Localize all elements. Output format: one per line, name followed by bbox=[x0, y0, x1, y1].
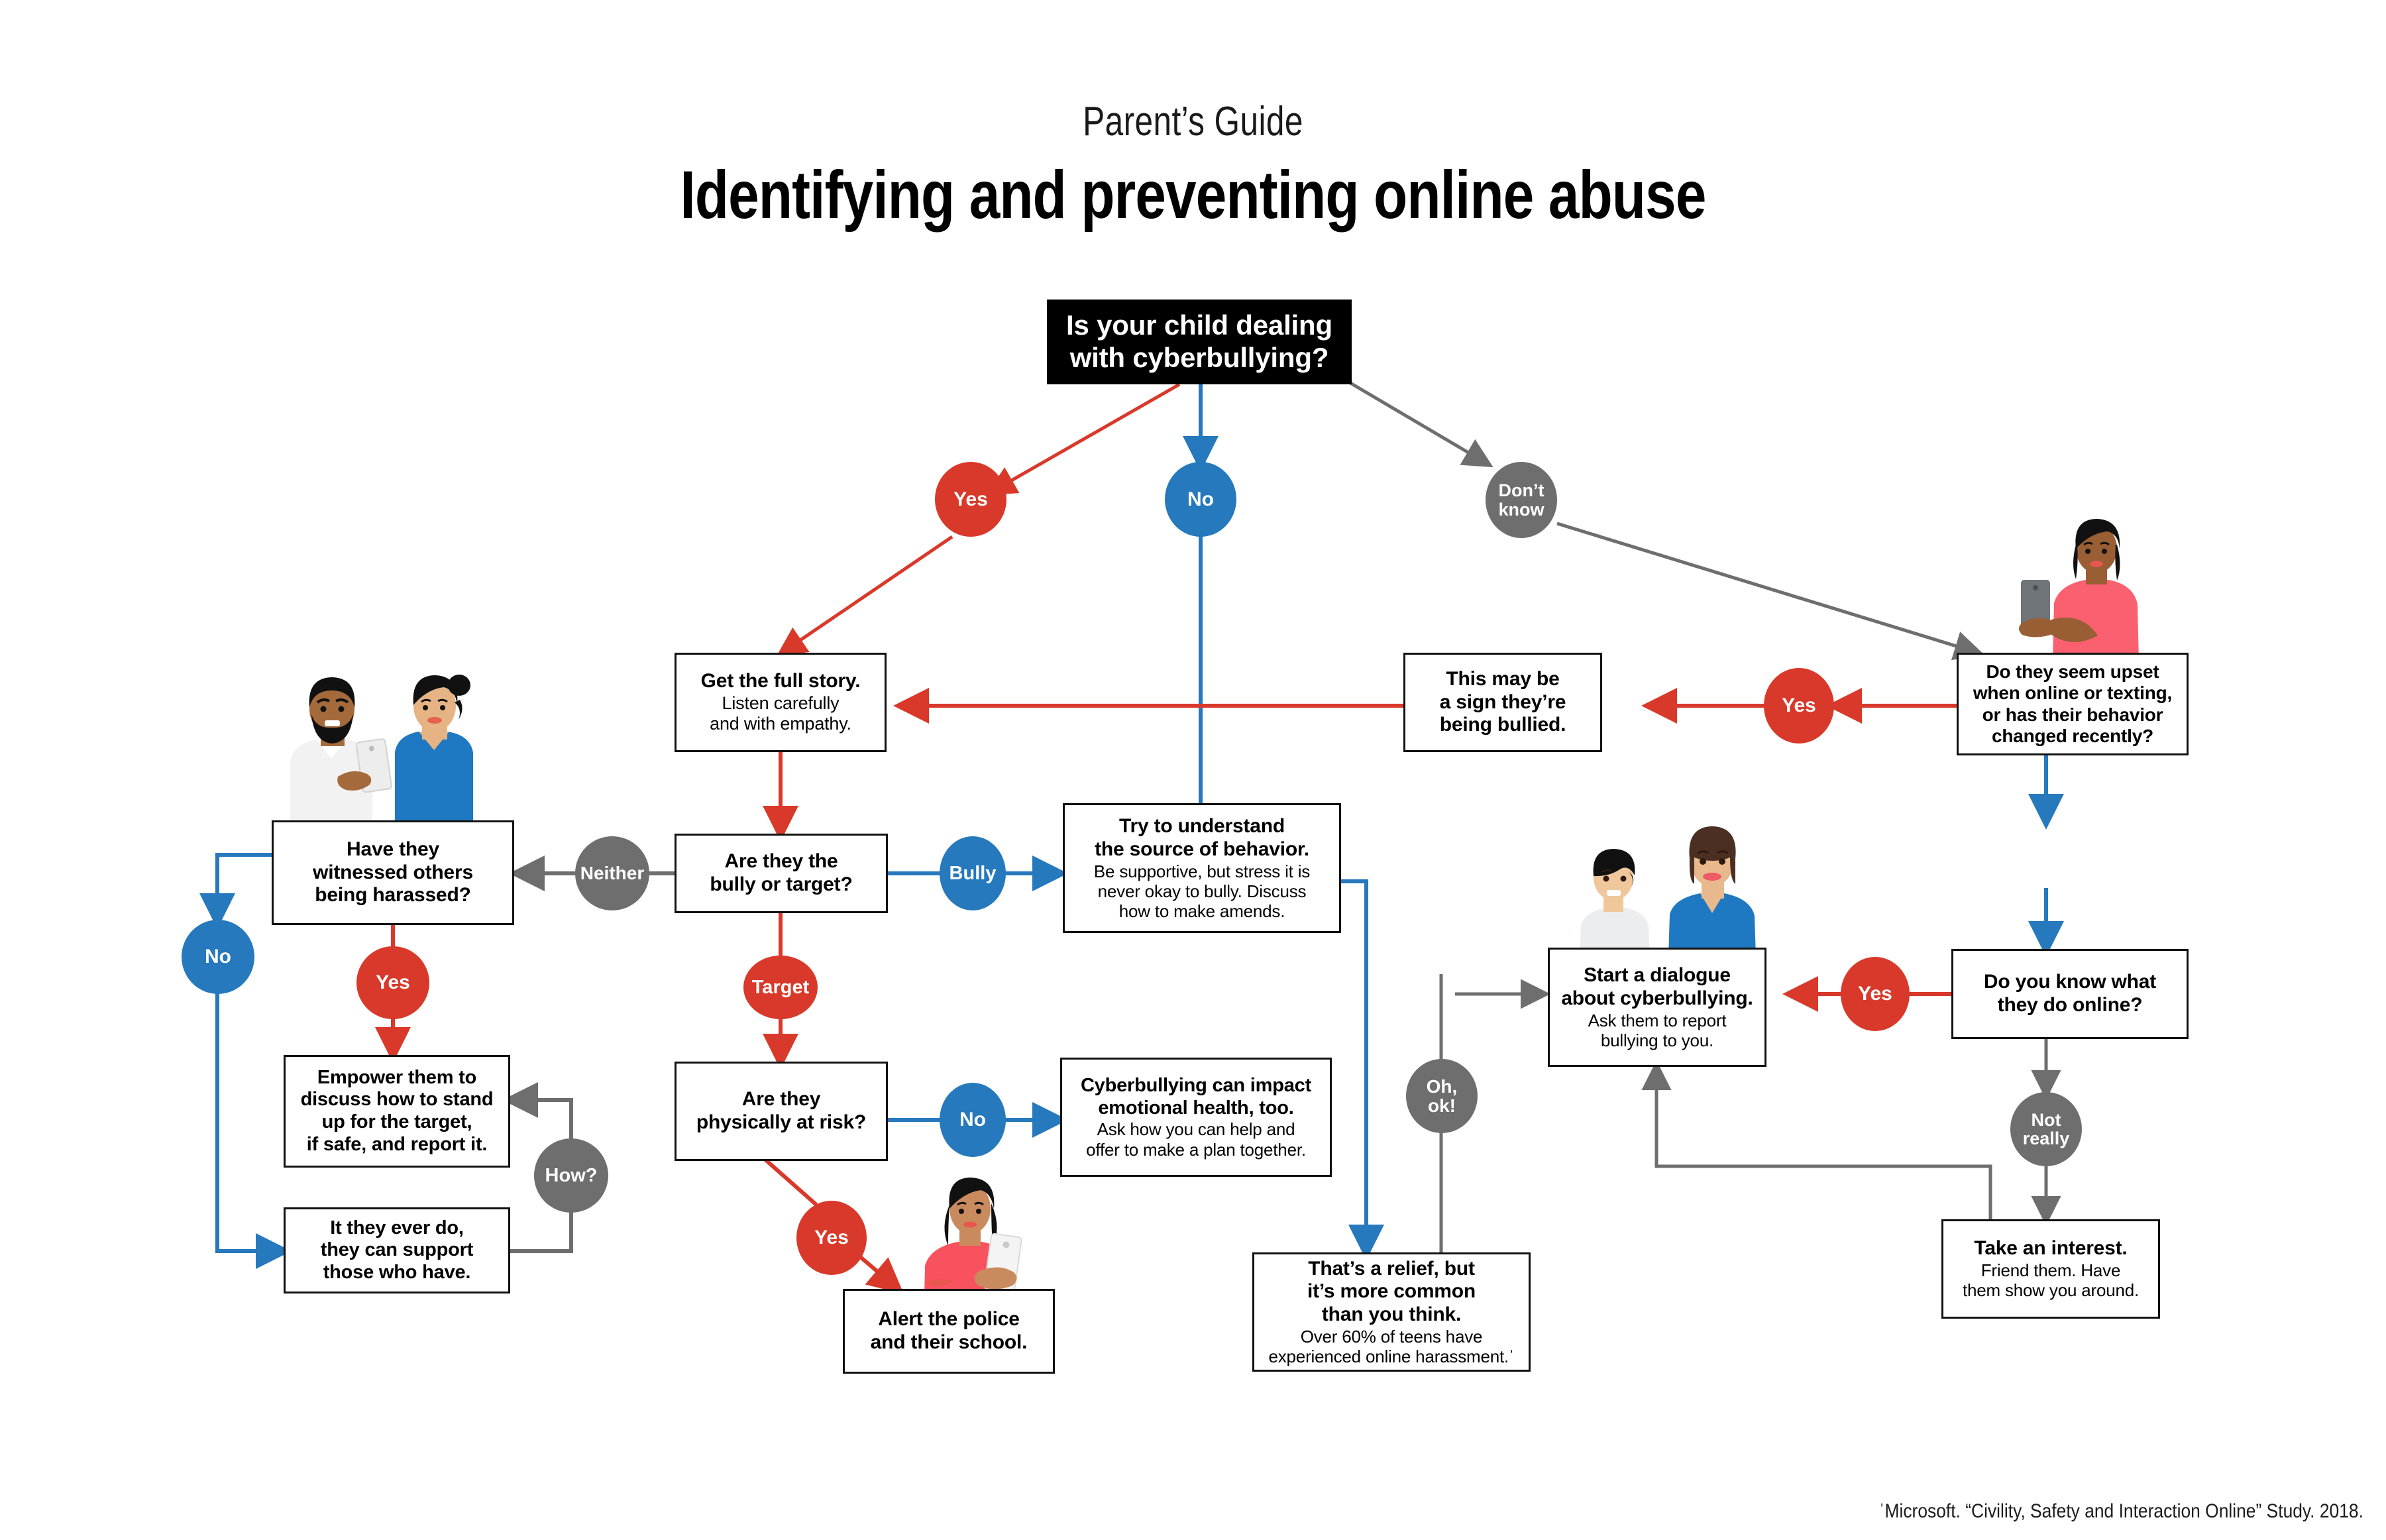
node-take-an-interest[interactable]: Take an interest. Friend them. Have them… bbox=[1941, 1219, 2160, 1319]
node-this-may-be-a-sign-title: This may be a sign they’re being bullied… bbox=[1440, 668, 1566, 737]
badge-not-really[interactable]: Not really bbox=[2010, 1092, 2082, 1166]
node-empower-them-title: Empower them to discuss how to stand up … bbox=[301, 1067, 494, 1156]
badge-dont-know[interactable]: Don’t know bbox=[1486, 462, 1557, 538]
girl-in-pink-with-phone-illustration bbox=[2008, 510, 2180, 663]
badge-bully-label: Bully bbox=[949, 863, 997, 883]
page-title-wrap: Identifying and preventing online abuse bbox=[0, 152, 2386, 234]
badge-no-witnessed[interactable]: No bbox=[182, 920, 254, 994]
badge-dont-know-label: Don’t know bbox=[1498, 481, 1544, 519]
node-this-may-be-a-sign[interactable]: This may be a sign they’re being bullied… bbox=[1403, 653, 1602, 752]
node-if-they-ever-do[interactable]: It they ever do, they can support those … bbox=[284, 1207, 510, 1293]
badge-yes-witnessed[interactable]: Yes bbox=[356, 946, 429, 1019]
node-empower-them[interactable]: Empower them to discuss how to stand up … bbox=[284, 1055, 510, 1168]
badge-oh-ok[interactable]: Oh, ok! bbox=[1406, 1059, 1478, 1133]
node-alert-the-police-title: Alert the police and their school. bbox=[871, 1308, 1028, 1354]
mother-and-son-illustration bbox=[1570, 808, 1782, 958]
badge-yes-upset[interactable]: Yes bbox=[1764, 668, 1834, 743]
node-get-full-story-title: Get the full story. bbox=[701, 670, 861, 693]
page-header: Parent’s Guide bbox=[0, 98, 2386, 145]
badge-bully[interactable]: Bully bbox=[940, 836, 1006, 910]
node-try-to-understand-sub: Be supportive, but stress it is never ok… bbox=[1094, 861, 1310, 921]
page-eyebrow: Parent’s Guide bbox=[239, 98, 2147, 145]
couple-with-phone-illustration bbox=[265, 636, 490, 828]
node-are-they-bully-or-target[interactable]: Are they the bully or target? bbox=[675, 834, 888, 913]
node-get-full-story-sub: Listen carefully and with empathy. bbox=[710, 693, 851, 735]
node-are-they-physically-at-risk[interactable]: Are they physically at risk? bbox=[675, 1062, 888, 1161]
node-do-they-seem-upset[interactable]: Do they seem upset when online or textin… bbox=[1957, 653, 2189, 755]
node-do-you-know-online-title: Do you know what they do online? bbox=[1984, 971, 2156, 1017]
badge-yes-start-label: Yes bbox=[953, 489, 988, 510]
badge-yes-risk[interactable]: Yes bbox=[796, 1201, 867, 1275]
node-thats-a-relief-title: That’s a relief, but it’s more common th… bbox=[1307, 1258, 1476, 1327]
badge-yes-start[interactable]: Yes bbox=[935, 462, 1006, 537]
badge-how[interactable]: How? bbox=[534, 1138, 608, 1213]
node-start-a-dialogue-sub: Ask them to report bullying to you. bbox=[1588, 1011, 1727, 1050]
node-start[interactable]: Is your child dealing with cyberbullying… bbox=[1047, 300, 1352, 384]
node-are-they-at-risk-title: Are they physically at risk? bbox=[696, 1088, 866, 1134]
source-footnote: ˈMicrosoft. “Civility, Safety and Intera… bbox=[1879, 1500, 2363, 1523]
node-start-title: Is your child dealing with cyberbullying… bbox=[1066, 309, 1332, 374]
node-have-they-witnessed-title: Have they witnessed others being harasse… bbox=[313, 838, 473, 907]
badge-no-start-label: No bbox=[1187, 489, 1214, 510]
node-cyberbullying-impact[interactable]: Cyberbullying can impact emotional healt… bbox=[1060, 1058, 1332, 1177]
badge-neither[interactable]: Neither bbox=[575, 836, 649, 910]
badge-oh-ok-label: Oh, ok! bbox=[1427, 1077, 1458, 1116]
badge-not-really-label: Not really bbox=[2023, 1111, 2070, 1148]
badge-yes-online[interactable]: Yes bbox=[1841, 957, 1910, 1031]
node-cyberbullying-impact-title: Cyberbullying can impact emotional healt… bbox=[1081, 1075, 1311, 1119]
node-try-to-understand-title: Try to understand the source of behavior… bbox=[1095, 815, 1309, 861]
badge-target[interactable]: Target bbox=[743, 956, 818, 1019]
badge-yes-online-label: Yes bbox=[1858, 983, 1892, 1005]
node-take-an-interest-title: Take an interest. bbox=[1974, 1237, 2127, 1260]
badge-neither-label: Neither bbox=[580, 863, 644, 883]
badge-no-risk[interactable]: No bbox=[940, 1083, 1006, 1157]
badge-yes-risk-label: Yes bbox=[814, 1227, 849, 1248]
node-get-full-story[interactable]: Get the full story. Listen carefully and… bbox=[675, 653, 887, 752]
badge-no-witnessed-label: No bbox=[205, 946, 231, 967]
page-title: Identifying and preventing online abuse bbox=[215, 156, 2171, 234]
node-do-they-seem-upset-title: Do they seem upset when online or textin… bbox=[1973, 661, 2172, 747]
badge-how-label: How? bbox=[545, 1166, 598, 1185]
node-are-they-bully-or-target-title: Are they the bully or target? bbox=[710, 850, 852, 897]
node-have-they-witnessed[interactable]: Have they witnessed others being harasse… bbox=[272, 820, 514, 925]
node-thats-a-relief-sub: Over 60% of teens have experienced onlin… bbox=[1268, 1327, 1514, 1366]
node-take-an-interest-sub: Friend them. Have them show you around. bbox=[1963, 1260, 2139, 1300]
badge-yes-witnessed-label: Yes bbox=[376, 972, 410, 993]
badge-target-label: Target bbox=[752, 977, 809, 997]
node-alert-the-police[interactable]: Alert the police and their school. bbox=[843, 1289, 1055, 1374]
node-do-you-know-what-they-do-online[interactable]: Do you know what they do online? bbox=[1951, 949, 2189, 1039]
node-start-a-dialogue-title: Start a dialogue about cyberbullying. bbox=[1561, 964, 1753, 1011]
node-start-a-dialogue[interactable]: Start a dialogue about cyberbullying. As… bbox=[1548, 948, 1766, 1067]
node-if-they-ever-do-title: It they ever do, they can support those … bbox=[321, 1217, 473, 1284]
node-thats-a-relief[interactable]: That’s a relief, but it’s more common th… bbox=[1252, 1252, 1531, 1372]
badge-yes-upset-label: Yes bbox=[1782, 695, 1816, 716]
node-try-to-understand[interactable]: Try to understand the source of behavior… bbox=[1063, 803, 1341, 933]
node-cyberbullying-impact-sub: Ask how you can help and offer to make a… bbox=[1086, 1119, 1306, 1159]
badge-no-risk-label: No bbox=[959, 1109, 986, 1130]
badge-no-start[interactable]: No bbox=[1165, 462, 1236, 537]
